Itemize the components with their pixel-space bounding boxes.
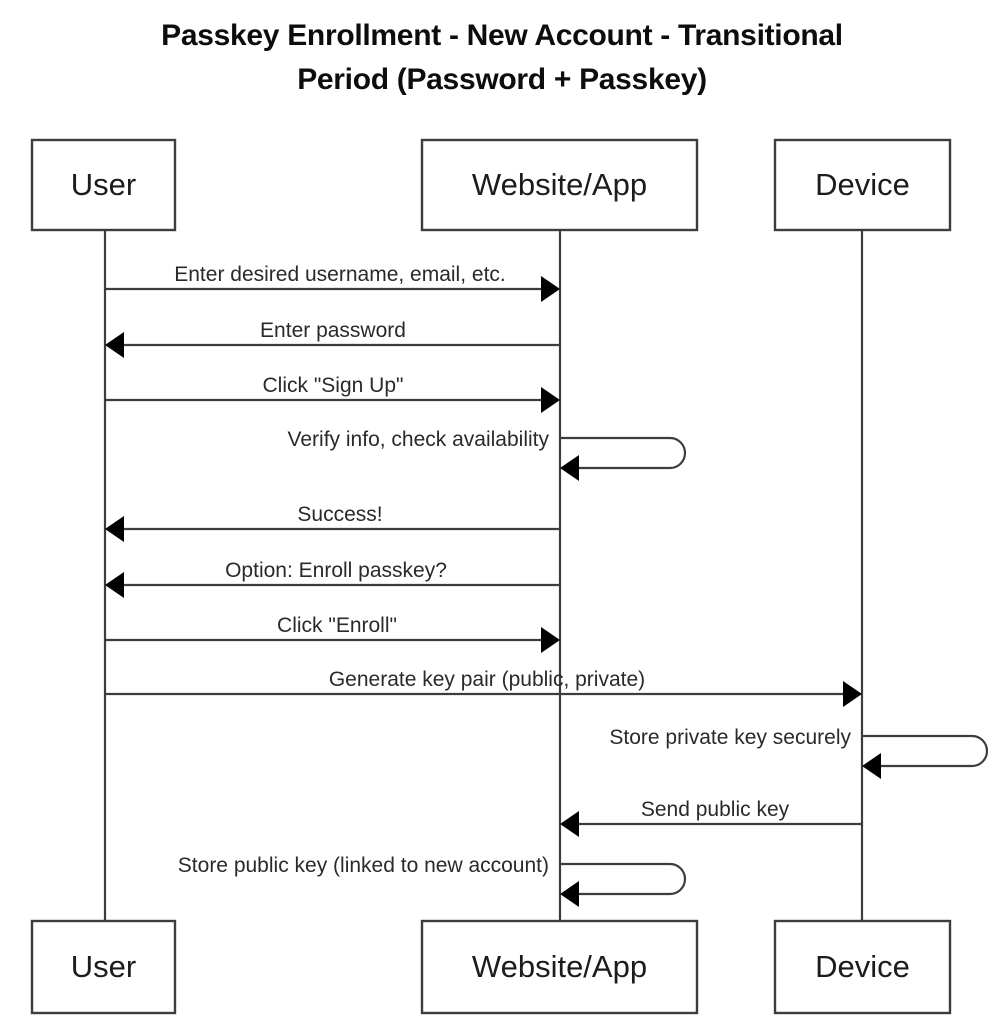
actor-box-website-top[interactable]: Website/App xyxy=(422,140,697,230)
sequence-canvas: User Website/App Device Enter desired us… xyxy=(0,0,1004,1023)
message-9-arrowhead xyxy=(862,753,881,779)
message-4-label: Verify info, check availability xyxy=(288,428,550,451)
message-2-label: Enter password xyxy=(260,319,406,342)
message-9-store-private-key-self-call[interactable]: Store private key securely xyxy=(609,726,987,779)
actor-label-user-top: User xyxy=(71,167,136,202)
message-11-arrowhead xyxy=(560,881,579,907)
message-3-click-sign-up[interactable]: Click "Sign Up" xyxy=(105,374,560,413)
actor-label-website-top: Website/App xyxy=(472,167,647,202)
message-5-arrowhead xyxy=(105,516,124,542)
actor-box-user-top[interactable]: User xyxy=(32,140,175,230)
message-6-arrowhead xyxy=(105,572,124,598)
message-10-send-public-key[interactable]: Send public key xyxy=(560,798,862,837)
message-7-arrowhead xyxy=(541,627,560,653)
message-3-label: Click "Sign Up" xyxy=(263,374,404,397)
actor-box-device-top[interactable]: Device xyxy=(775,140,950,230)
message-8-arrowhead xyxy=(843,681,862,707)
actor-box-user-bottom[interactable]: User xyxy=(32,921,175,1013)
message-2-enter-password[interactable]: Enter password xyxy=(105,319,560,358)
message-1-arrowhead xyxy=(541,276,560,302)
message-6-option-enroll-passkey[interactable]: Option: Enroll passkey? xyxy=(105,559,560,598)
message-4-arrowhead xyxy=(560,455,579,481)
message-6-label: Option: Enroll passkey? xyxy=(225,559,447,582)
actor-box-device-bottom[interactable]: Device xyxy=(775,921,950,1013)
sequence-diagram-root: Passkey Enrollment - New Account - Trans… xyxy=(0,0,1004,1023)
actor-label-website-bottom: Website/App xyxy=(472,949,647,984)
message-9-label: Store private key securely xyxy=(609,726,851,749)
actor-label-device-top: Device xyxy=(815,167,910,202)
message-1-label: Enter desired username, email, etc. xyxy=(174,263,506,286)
message-10-label: Send public key xyxy=(641,798,790,821)
message-7-label: Click "Enroll" xyxy=(277,614,397,637)
actor-label-device-bottom: Device xyxy=(815,949,910,984)
message-8-generate-key-pair[interactable]: Generate key pair (public, private) xyxy=(105,668,862,707)
message-11-store-public-key-self-call[interactable]: Store public key (linked to new account) xyxy=(178,854,685,907)
message-4-verify-info-self-call[interactable]: Verify info, check availability xyxy=(288,428,685,481)
message-10-arrowhead xyxy=(560,811,579,837)
message-11-label: Store public key (linked to new account) xyxy=(178,854,549,877)
message-2-arrowhead xyxy=(105,332,124,358)
actor-box-website-bottom[interactable]: Website/App xyxy=(422,921,697,1013)
message-3-arrowhead xyxy=(541,387,560,413)
message-5-label: Success! xyxy=(297,503,382,526)
message-7-click-enroll[interactable]: Click "Enroll" xyxy=(105,614,560,653)
message-1-enter-username[interactable]: Enter desired username, email, etc. xyxy=(105,263,560,302)
message-5-success[interactable]: Success! xyxy=(105,503,560,542)
message-8-label: Generate key pair (public, private) xyxy=(329,668,645,691)
actor-label-user-bottom: User xyxy=(71,949,136,984)
